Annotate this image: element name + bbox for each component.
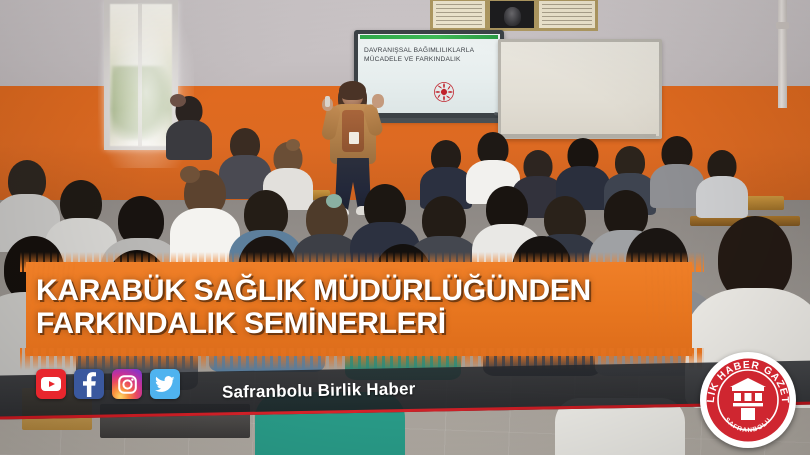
news-photo-card: DAVRANIŞSAL BAĞIMLILIKLARLA MÜCADELE VE … [0,0,810,455]
safranbolu-house-icon: BİRLİK HABER GAZETESİ SAFRANBOLU [700,352,796,448]
facebook-icon[interactable] [74,369,104,399]
page-title: KARABÜK SAĞLIK MÜDÜRLÜĞÜNDEN FARKINDALIK… [36,274,716,340]
twitter-icon[interactable] [150,369,180,399]
social-links[interactable] [36,369,180,399]
youtube-icon[interactable] [36,369,66,399]
student [0,160,54,246]
student [654,136,700,202]
student [168,96,210,156]
student [700,150,744,212]
student [424,140,468,204]
newspaper-logo: BİRLİK HABER GAZETESİ SAFRANBOLU [700,352,796,448]
instagram-icon[interactable] [112,369,142,399]
brand-name: Safranbolu Birlik Haber [222,379,416,403]
